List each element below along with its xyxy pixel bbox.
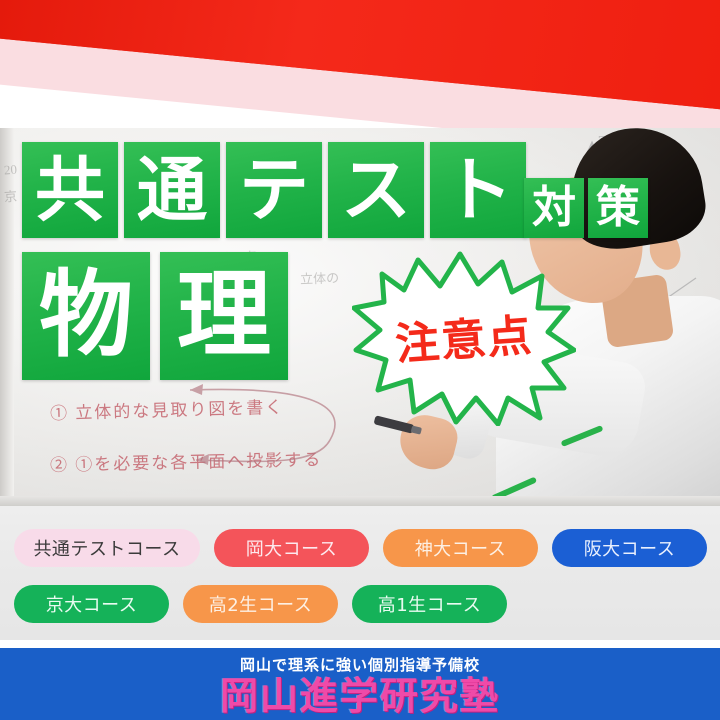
board-faint-note-2: 京 [3,186,17,206]
title-tile-6: 対 [524,178,584,238]
brand-banner: 岡山で理系に強い個別指導予備校 岡山進学研究塾 [0,648,720,720]
title-tile-2: 通 [124,142,220,238]
title-tile-4: ス [328,142,424,238]
starburst-label: 注意点 [346,238,582,433]
title-tile-7: 策 [588,178,648,238]
course-pill-row-1: 共通テストコース 岡大コース 神大コース 阪大コース [0,529,720,567]
whiteboard-left-edge [0,128,14,506]
course-pill-grade2[interactable]: 高2生コース [183,585,338,623]
board-faint-note-4: 立体の [300,267,340,287]
curved-arrow-icon [180,368,360,488]
brand-tagline: 岡山で理系に強い個別指導予備校 [240,654,480,675]
title-tile-3: テ [226,142,322,238]
course-pill-kyotsu-test[interactable]: 共通テストコース [14,529,200,567]
course-pill-shindai[interactable]: 神大コース [383,529,538,567]
subject-tile-2: 理 [160,252,288,380]
course-pill-row-2: 京大コース 高2生コース 高1生コース [0,585,720,623]
brand-logo-text: 岡山進学研究塾 [220,677,500,715]
subject-tile-1: 物 [22,252,150,380]
title-tile-1: 共 [22,142,118,238]
top-ribbon-band [0,0,720,130]
promo-thumbnail: 20 京 縦 < 横 > 高 立体の z ① 立体的な見取り図を書く ② ①を必… [0,0,720,720]
course-pill-grade1[interactable]: 高1生コース [352,585,507,623]
title-tile-5: ト [430,142,526,238]
whiteboard-bottom-edge [0,496,720,506]
attention-starburst: 注意点 [352,246,576,426]
course-pill-panel: 共通テストコース 岡大コース 神大コース 阪大コース 京大コース 高2生コース … [0,506,720,640]
course-pill-kyodai[interactable]: 京大コース [14,585,169,623]
course-pill-handai[interactable]: 阪大コース [552,529,707,567]
hero-photo: 20 京 縦 < 横 > 高 立体の z ① 立体的な見取り図を書く ② ①を必… [0,128,720,506]
board-faint-note-1: 20 [3,162,17,179]
course-pill-okadai[interactable]: 岡大コース [214,529,369,567]
